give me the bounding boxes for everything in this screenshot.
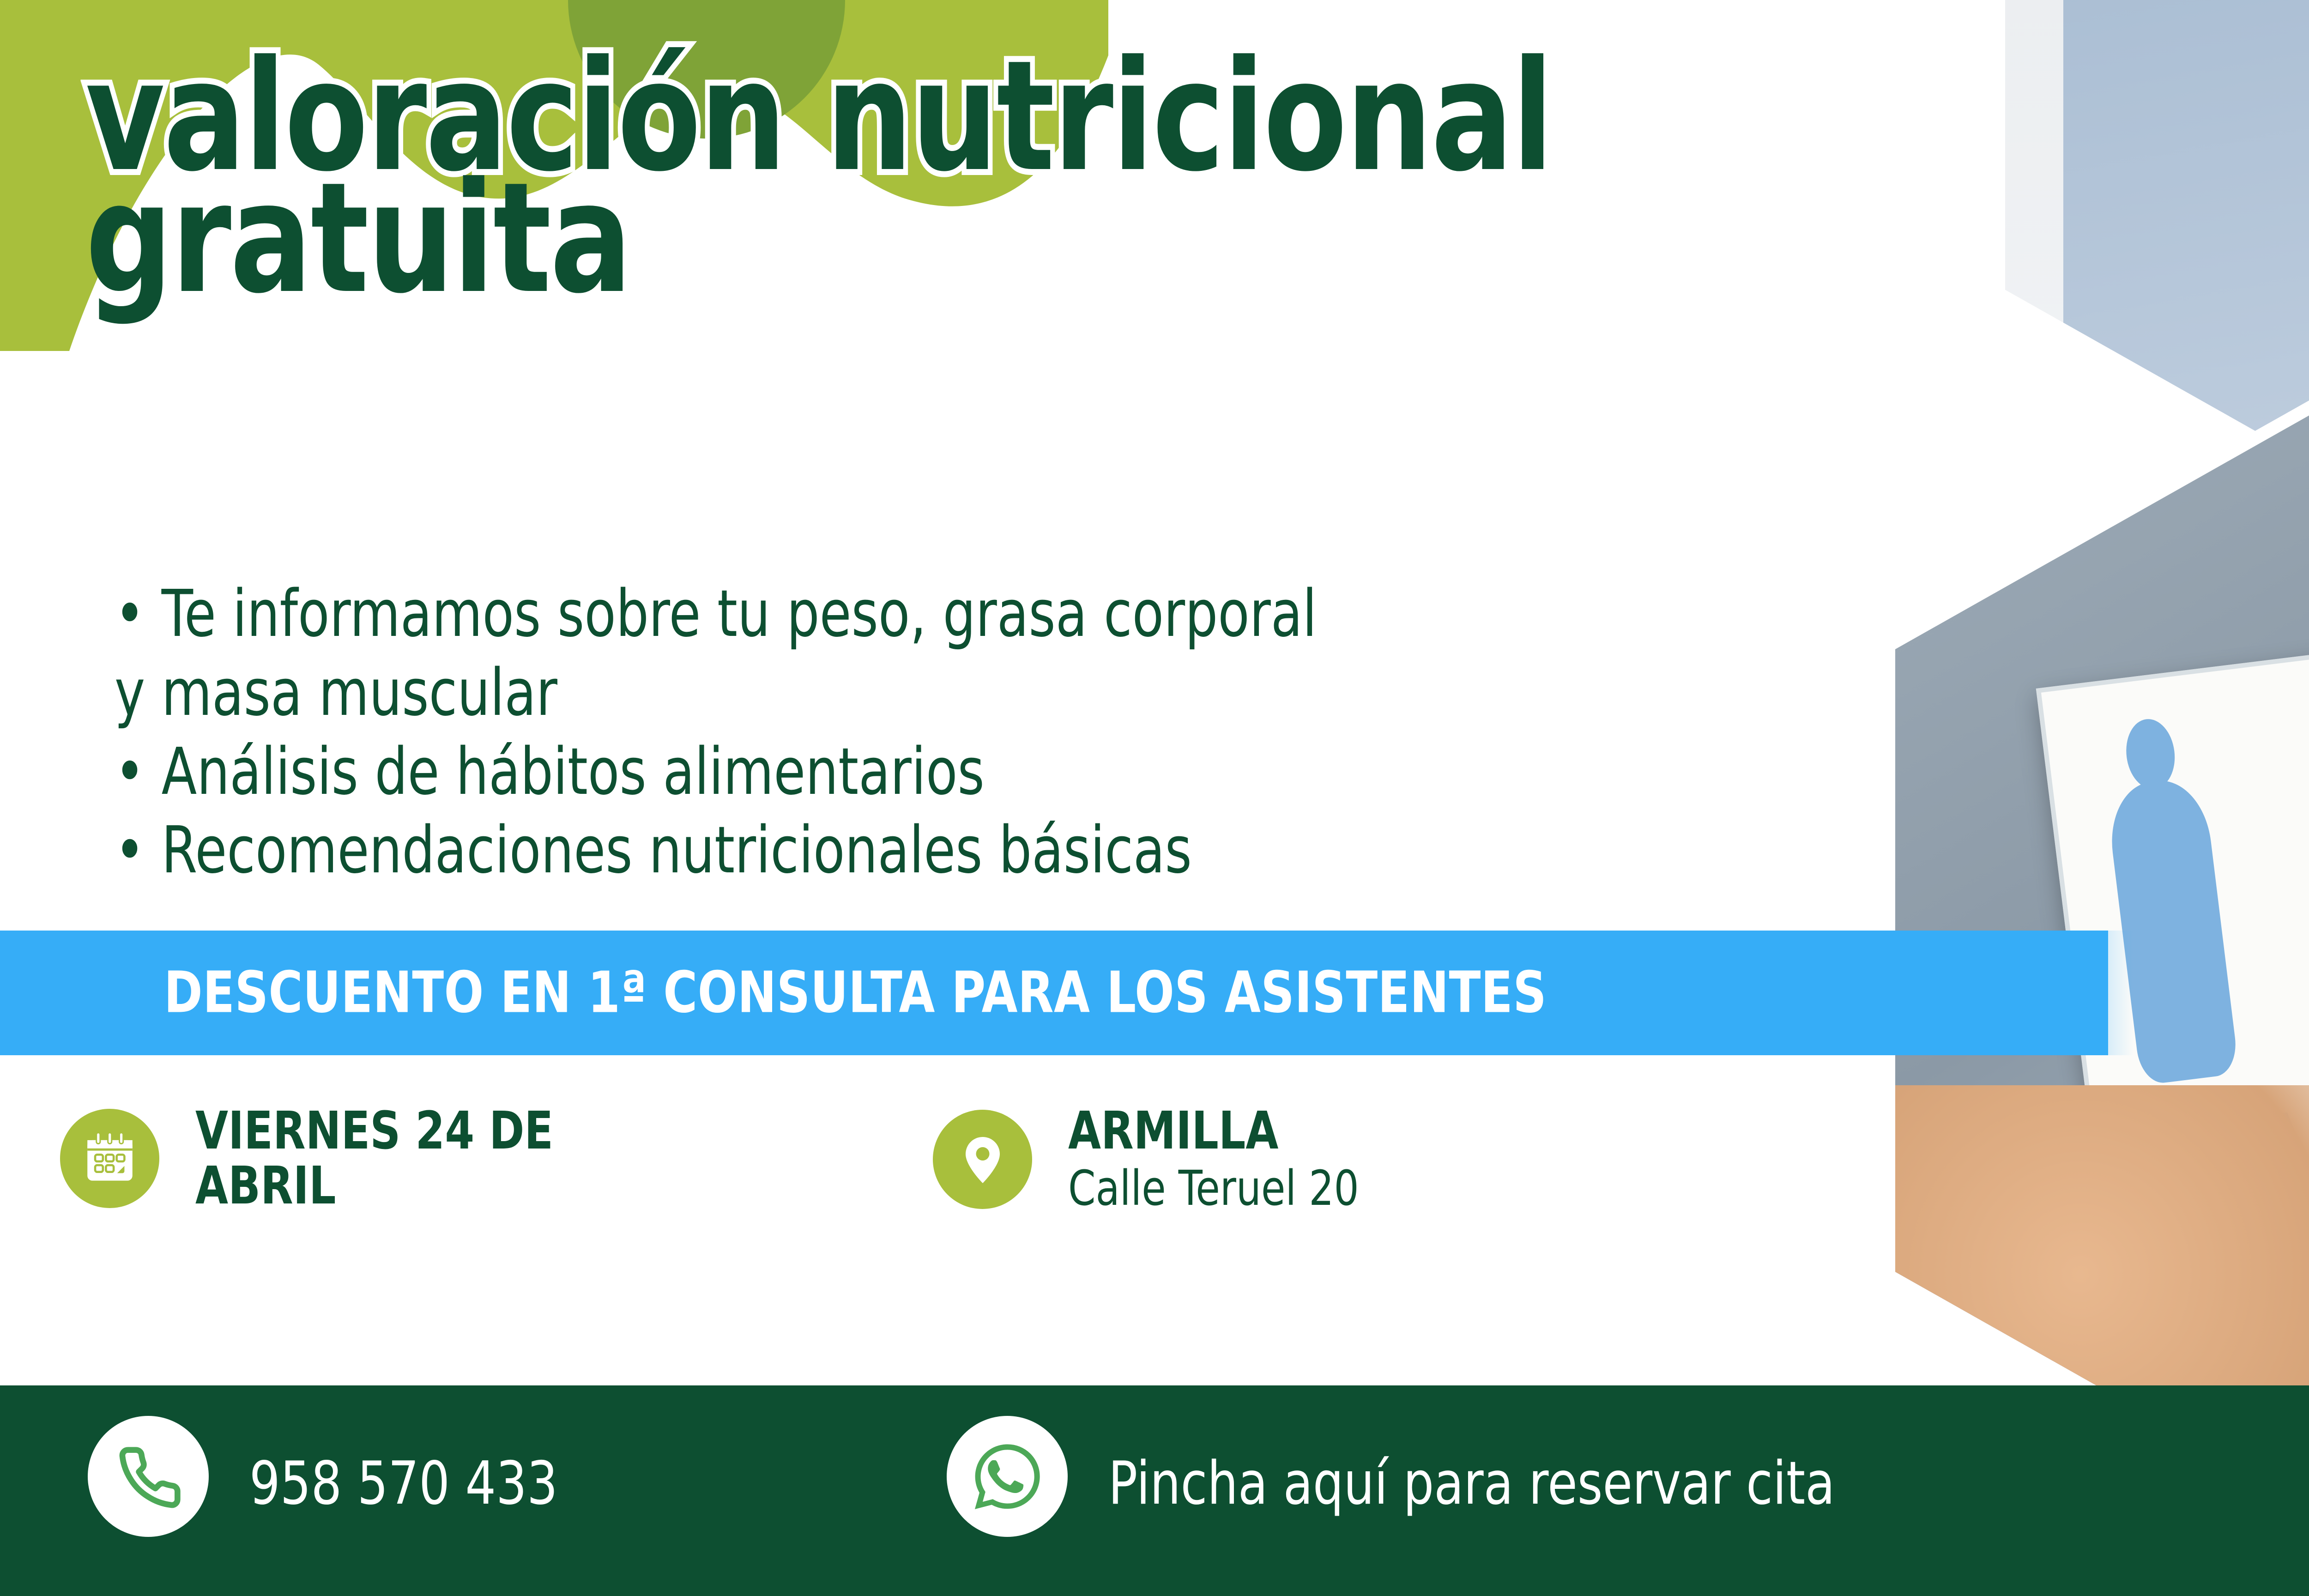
list-item: • Te informamos sobre tu peso, grasa cor… [115,575,1555,654]
whatsapp-cta[interactable]: Pincha aquí para reservar cita [1108,1449,1835,1518]
event-date: VIERNES 24 DE ABRIL [60,1104,632,1213]
benefits-list: • Te informamos sobre tu peso, grasa cor… [115,575,1555,890]
promotional-banner: <18,5 INSUFICIENTE 18,5-24,9 NORMOPESO 2… [0,0,2309,1596]
calendar-icon [60,1109,159,1208]
bmi-figure [2274,679,2309,1064]
event-location-texts: ARMILLA Calle Teruel 20 [1068,1104,1423,1215]
page-title: valoración nutricional gratuita [85,55,2302,299]
event-date-texts: VIERNES 24 DE ABRIL [195,1104,632,1213]
list-item: y masa muscular [115,654,1555,733]
event-location-address: Calle Teruel 20 [1068,1161,1359,1215]
phone-contact[interactable]: 958 570 433 [88,1430,625,1537]
list-item: • Análisis de hábitos alimentarios [115,733,1555,812]
whatsapp-contact[interactable]: Pincha aquí para reservar cita [947,1430,1995,1537]
discount-banner-fade [1940,931,2134,1055]
contact-footer: 958 570 433 Pincha aquí para reservar ci… [0,1385,2309,1596]
event-details: VIERNES 24 DE ABRIL ARMILLA Calle Teruel… [0,1076,2124,1353]
phone-number[interactable]: 958 570 433 [249,1449,558,1518]
phone-icon[interactable] [88,1416,209,1537]
list-item: • Recomendaciones nutricionales básicas [115,811,1555,890]
event-date-label: VIERNES 24 DE ABRIL [195,1104,553,1213]
whatsapp-icon[interactable] [947,1416,1068,1537]
discount-banner: DESCUENTO EN 1ª CONSULTA PARA LOS ASISTE… [0,931,2108,1055]
location-pin-icon [933,1110,1032,1209]
event-location-city: ARMILLA [1068,1104,1359,1159]
discount-text: DESCUENTO EN 1ª CONSULTA PARA LOS ASISTE… [164,960,1547,1026]
event-location: ARMILLA Calle Teruel 20 [933,1104,1423,1215]
